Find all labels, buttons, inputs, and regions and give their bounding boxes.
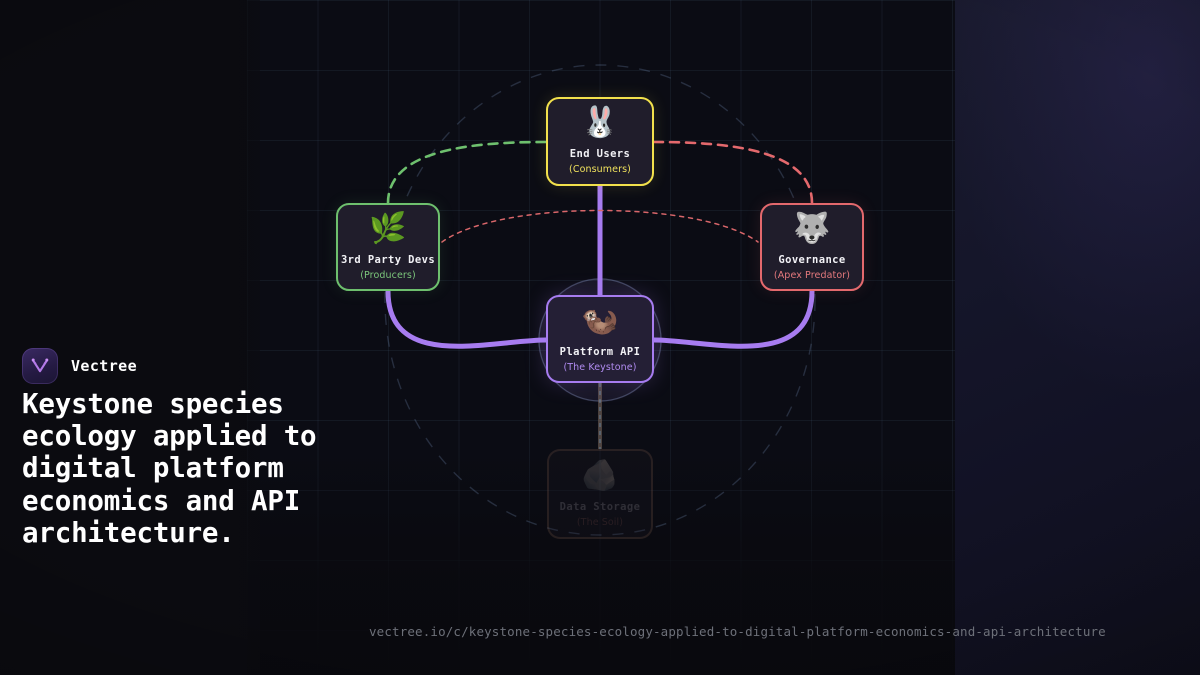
node-platform-api[interactable]: 🦦 Platform API (The Keystone) bbox=[546, 295, 654, 383]
rock-emoji: 🪨 bbox=[581, 461, 618, 491]
edge-end-users-governance bbox=[654, 142, 812, 203]
node-title: Platform API bbox=[560, 346, 641, 358]
node-subtitle: (Producers) bbox=[360, 270, 416, 281]
screenshot-stage: 🐰 End Users (Consumers) 🌿 3rd Party Devs… bbox=[0, 0, 1200, 675]
herb-leaf-emoji: 🌿 bbox=[369, 214, 406, 244]
share-url: vectree.io/c/keystone-species-ecology-ap… bbox=[369, 624, 1106, 639]
brand-name: Vectree bbox=[71, 357, 137, 375]
node-governance[interactable]: 🐺 Governance (Apex Predator) bbox=[760, 203, 864, 291]
node-title: Data Storage bbox=[560, 501, 641, 513]
otter-emoji: 🦦 bbox=[581, 306, 618, 336]
node-subtitle: (The Soil) bbox=[577, 517, 623, 528]
page-title: Keystone species ecology applied to digi… bbox=[22, 388, 367, 549]
rabbit-emoji: 🐰 bbox=[581, 108, 618, 138]
node-third-party-devs[interactable]: 🌿 3rd Party Devs (Producers) bbox=[336, 203, 440, 291]
brand: Vectree bbox=[22, 348, 137, 384]
node-title: 3rd Party Devs bbox=[341, 254, 435, 266]
node-title: Governance bbox=[778, 254, 845, 266]
wolf-emoji: 🐺 bbox=[793, 214, 830, 244]
edge-devs-platform-api bbox=[388, 291, 546, 346]
node-subtitle: (The Keystone) bbox=[563, 362, 636, 373]
vectree-tree-logo-icon bbox=[22, 348, 58, 384]
node-subtitle: (Apex Predator) bbox=[774, 270, 850, 281]
node-title: End Users bbox=[570, 148, 631, 160]
edge-governance-platform-api bbox=[654, 291, 812, 346]
node-data-storage[interactable]: 🪨 Data Storage (The Soil) bbox=[547, 449, 653, 539]
node-end-users[interactable]: 🐰 End Users (Consumers) bbox=[546, 97, 654, 186]
node-subtitle: (Consumers) bbox=[569, 164, 631, 175]
edge-devs-end-users bbox=[388, 142, 546, 203]
